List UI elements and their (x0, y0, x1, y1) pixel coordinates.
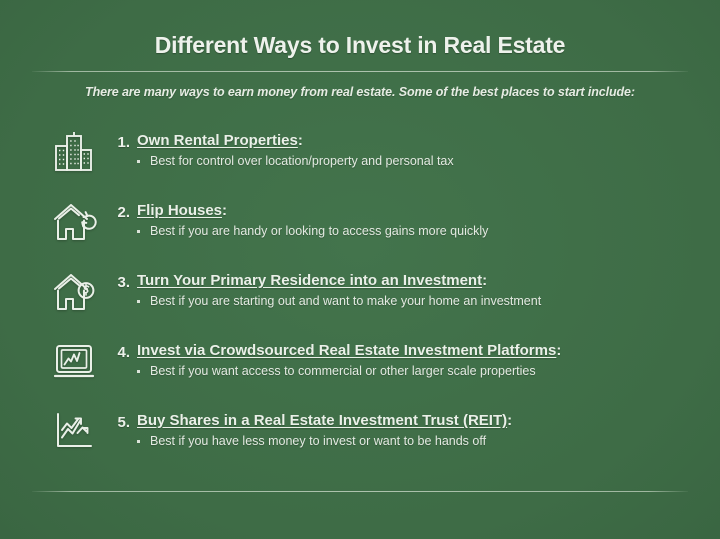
bullet-marker-icon (137, 370, 140, 373)
list-item-bullet-text: Best if you want access to commercial or… (150, 364, 536, 378)
list-item-number: 5. (96, 414, 130, 431)
list-item-bullet-text: Best if you have less money to invest or… (150, 434, 486, 448)
bullet-marker-icon (137, 300, 140, 303)
list-item-heading: Turn Your Primary Residence into an Inve… (137, 272, 700, 289)
divider-bottom (32, 491, 688, 492)
list-item-number: 1. (96, 134, 130, 151)
bullet-marker-icon (137, 230, 140, 233)
list-item-body: Turn Your Primary Residence into an Inve… (137, 272, 700, 308)
list-item-heading-text: Invest via Crowdsourced Real Estate Inve… (137, 342, 556, 359)
slide-canvas: Different Ways to Invest in Real Estate … (0, 0, 720, 539)
list-item-heading-colon: : (222, 202, 227, 219)
list-item-number: 2. (96, 204, 130, 221)
laptop-chart-icon (46, 336, 102, 386)
list-item-body: Own Rental Properties: Best for control … (137, 132, 700, 168)
bullet-marker-icon (137, 160, 140, 163)
list-item-bullet-text: Best if you are handy or looking to acce… (150, 224, 488, 238)
page-title: Different Ways to Invest in Real Estate (0, 32, 720, 59)
list-item-heading-colon: : (482, 272, 487, 289)
list-item-heading-text: Turn Your Primary Residence into an Inve… (137, 272, 482, 289)
list-item: 5. Buy Shares in a Real Estate Investmen… (0, 402, 720, 472)
list-item-heading-text: Own Rental Properties (137, 132, 298, 149)
growth-chart-arrow-icon (46, 406, 102, 456)
office-buildings-icon (46, 126, 102, 176)
list-item-bullet: Best if you want access to commercial or… (137, 364, 700, 378)
list-item-bullet: Best if you are starting out and want to… (137, 294, 700, 308)
list-item-bullet-text: Best if you are starting out and want to… (150, 294, 541, 308)
list-item-heading-colon: : (298, 132, 303, 149)
bullet-marker-icon (137, 440, 140, 443)
list-item: 2. Flip Houses: Best if you are handy or… (0, 192, 720, 262)
list-item-number: 3. (96, 274, 130, 291)
page-subtitle: There are many ways to earn money from r… (0, 85, 720, 99)
divider-top (32, 71, 688, 72)
list-item-bullet: Best if you are handy or looking to acce… (137, 224, 700, 238)
house-refresh-icon (46, 196, 102, 246)
list-item-bullet-text: Best for control over location/property … (150, 154, 454, 168)
list-item: 3. Turn Your Primary Residence into an I… (0, 262, 720, 332)
list-item-bullet: Best for control over location/property … (137, 154, 700, 168)
list-item-heading: Flip Houses: (137, 202, 700, 219)
list-item-body: Flip Houses: Best if you are handy or lo… (137, 202, 700, 238)
list-item-heading: Own Rental Properties: (137, 132, 700, 149)
list-item-heading-text: Flip Houses (137, 202, 222, 219)
list-item-heading-colon: : (507, 412, 512, 429)
list-item-heading: Buy Shares in a Real Estate Investment T… (137, 412, 700, 429)
list-item-bullet: Best if you have less money to invest or… (137, 434, 700, 448)
list-item-heading-text: Buy Shares in a Real Estate Investment T… (137, 412, 507, 429)
list-item-heading-colon: : (556, 342, 561, 359)
list-item: 4. Invest via Crowdsourced Real Estate I… (0, 332, 720, 402)
list-item-number: 4. (96, 344, 130, 361)
house-dollar-icon (46, 266, 102, 316)
list-item-body: Invest via Crowdsourced Real Estate Inve… (137, 342, 700, 378)
list-item-body: Buy Shares in a Real Estate Investment T… (137, 412, 700, 448)
ways-list: 1. Own Rental Properties: Best for contr… (0, 122, 720, 472)
list-item: 1. Own Rental Properties: Best for contr… (0, 122, 720, 192)
list-item-heading: Invest via Crowdsourced Real Estate Inve… (137, 342, 700, 359)
